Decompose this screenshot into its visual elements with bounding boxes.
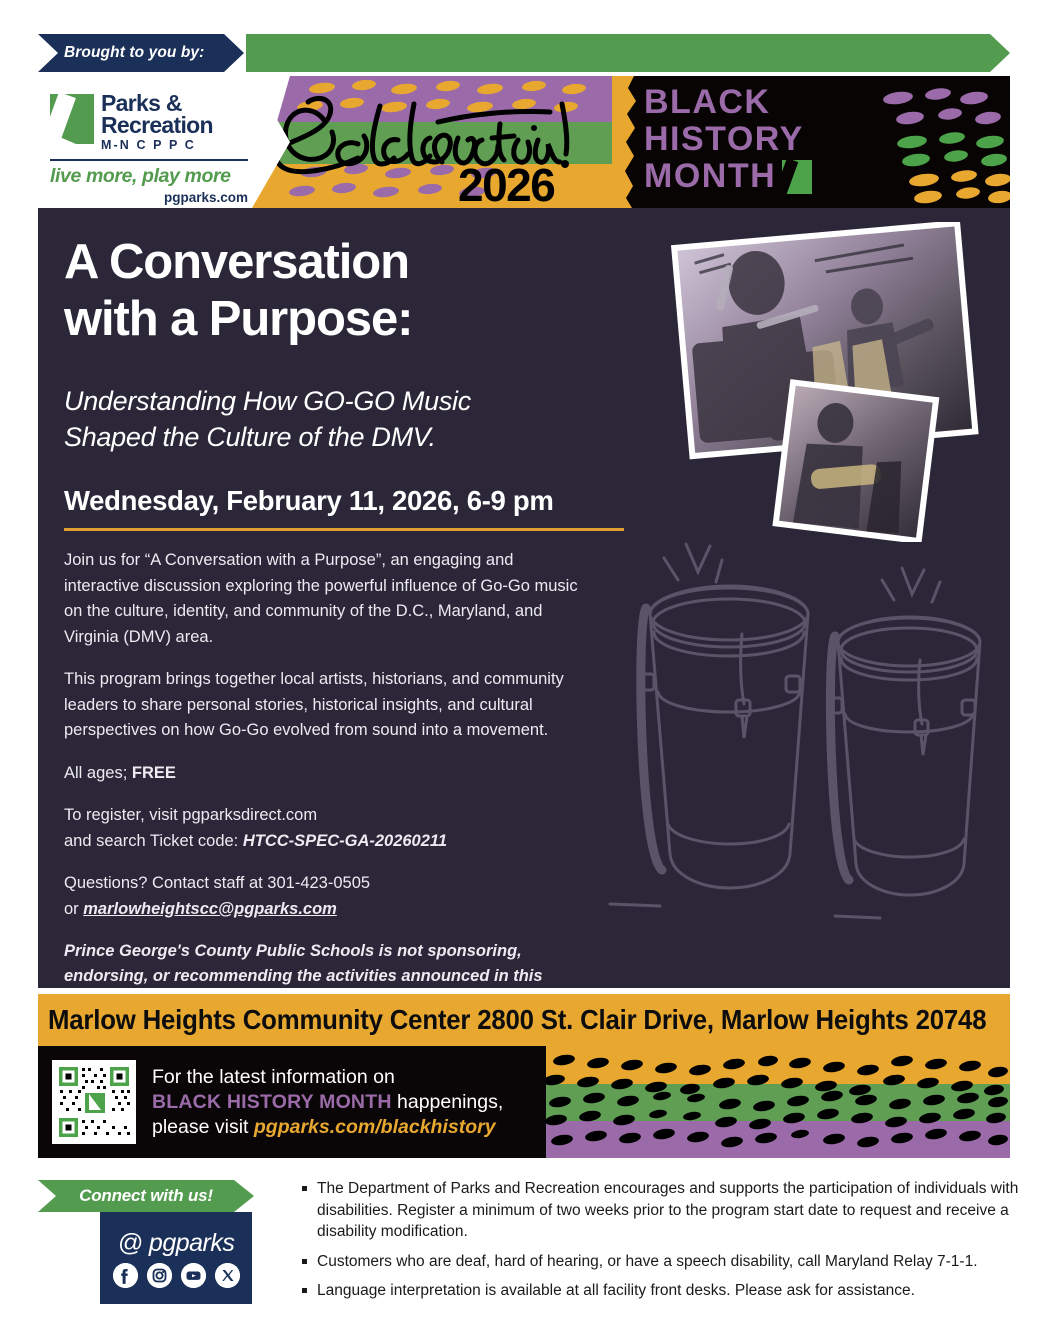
brought-by-label: Brought to you by: (64, 44, 204, 62)
celebration-year: 2026 (458, 158, 554, 208)
black-history-month-wordmark: BLACK HISTORY MONTH (644, 84, 812, 195)
photo-collage (662, 222, 1002, 542)
instagram-icon[interactable] (147, 1263, 172, 1288)
qr-line-1: For the latest information on (152, 1065, 503, 1090)
brought-to-you-ribbon: Brought to you by: (38, 34, 1010, 72)
color-band-pattern (546, 1046, 1010, 1158)
description-paragraph-2: This program brings together local artis… (64, 667, 584, 744)
qr-line-2: BLACK HISTORY MONTH happenings, (152, 1090, 503, 1115)
disclaimer-item: Customers who are deaf, hard of hearing,… (300, 1251, 1020, 1273)
connect-with-us-banner: Connect with us! (38, 1180, 254, 1212)
go-go-bass-guitarist-photo (772, 379, 939, 542)
qr-panel: For the latest information on BLACK HIST… (38, 1046, 546, 1158)
bhm-line-3: MONTH (644, 158, 776, 195)
qr-message: For the latest information on BLACK HIST… (152, 1065, 503, 1140)
title-line-1: A Conversation (64, 234, 644, 291)
main-content-panel: A Conversation with a Purpose: Understan… (38, 208, 1010, 988)
qr-line-3: please visit pgparks.com/blackhistory (152, 1115, 503, 1140)
accessibility-disclaimers: The Department of Parks and Recreation e… (300, 1178, 1020, 1310)
flyer-page: Brought to you by: (0, 0, 1048, 1324)
venue-address: Marlow Heights Community Center 2800 St.… (48, 1004, 986, 1036)
green-ribbon-bar (246, 34, 1010, 72)
qr-happenings: happenings, (392, 1091, 504, 1113)
social-media-box: @ pgparks (100, 1212, 252, 1304)
description-paragraph-1: Join us for “A Conversation with a Purpo… (64, 548, 584, 650)
bhm-black-panel: BLACK HISTORY MONTH (594, 76, 1010, 208)
ages-prefix: All ages; (64, 764, 132, 782)
parks-logo-mark-icon (50, 94, 94, 144)
logo-line-1: Parks & (101, 92, 213, 114)
subtitle-line-1: Understanding How GO-GO Music (64, 383, 644, 419)
ticket-code: HTCC-SPEC-GA-20260211 (243, 832, 447, 850)
conga-drums-illustration (590, 524, 1010, 988)
free-label: FREE (132, 764, 176, 782)
logo-agency: M-N C P P C (101, 138, 213, 152)
logo-line-2: Recreation (101, 114, 213, 136)
qr-bhm-label: BLACK HISTORY MONTH (152, 1091, 392, 1113)
logo-divider (50, 159, 248, 161)
brought-by-chevron: Brought to you by: (38, 34, 244, 72)
logo-tagline: live more, play more (50, 165, 260, 188)
page-title: A Conversation with a Purpose: (64, 234, 644, 348)
contact-info: Questions? Contact staff at 301-423-0505… (64, 871, 584, 922)
header-band: BLACK HISTORY MONTH (38, 76, 1010, 208)
event-datetime: Wednesday, February 11, 2026, 6-9 pm (64, 485, 644, 517)
parks-logo-panel: Parks & Recreation M-N C P P C live more… (38, 76, 290, 208)
logo-url: pgparks.com (50, 190, 248, 205)
disclaimer-item: The Department of Parks and Recreation e… (300, 1178, 1020, 1243)
band-dashes (546, 1046, 1010, 1158)
event-description: Join us for “A Conversation with a Purpo… (64, 548, 584, 988)
x-twitter-icon[interactable] (215, 1263, 240, 1288)
celebration-panel: 2026 (252, 76, 612, 208)
mncppc-green-mark-icon (782, 160, 812, 194)
page-subtitle: Understanding How GO-GO Music Shaped the… (64, 383, 644, 455)
qr-visit-prefix: please visit (152, 1116, 254, 1138)
ages-line: All ages; FREE (64, 761, 584, 787)
questions-line: Questions? Contact staff at 301-423-0505 (64, 874, 370, 892)
bhm-line-2: HISTORY (644, 121, 812, 158)
ticket-code-prefix: and search Ticket code: (64, 832, 243, 850)
facebook-icon[interactable] (113, 1263, 138, 1288)
contact-email-link[interactable]: marlowheightscc@pgparks.com (83, 900, 337, 918)
bhm-line-1: BLACK (644, 84, 812, 121)
registration-info: To register, visit pgparksdirect.com and… (64, 803, 584, 854)
qr-strip: For the latest information on BLACK HIST… (38, 1046, 1010, 1158)
social-handle: @ pgparks (118, 1229, 235, 1258)
pgcps-disclaimer: Prince George's County Public Schools is… (64, 939, 584, 988)
email-prefix: or (64, 900, 83, 918)
connect-label: Connect with us! (79, 1186, 213, 1206)
title-line-2: with a Purpose: (64, 291, 644, 348)
disclaimer-item: Language interpretation is available at … (300, 1280, 1020, 1302)
qr-url[interactable]: pgparks.com/blackhistory (254, 1116, 496, 1138)
celebration-script-lettering (262, 84, 612, 194)
gold-divider (64, 528, 624, 531)
register-line-1: To register, visit pgparksdirect.com (64, 806, 317, 824)
subtitle-line-2: Shaped the Culture of the DMV. (64, 419, 644, 455)
qr-code-icon[interactable] (52, 1060, 136, 1144)
youtube-icon[interactable] (181, 1263, 206, 1288)
venue-bar: Marlow Heights Community Center 2800 St.… (38, 994, 1010, 1046)
